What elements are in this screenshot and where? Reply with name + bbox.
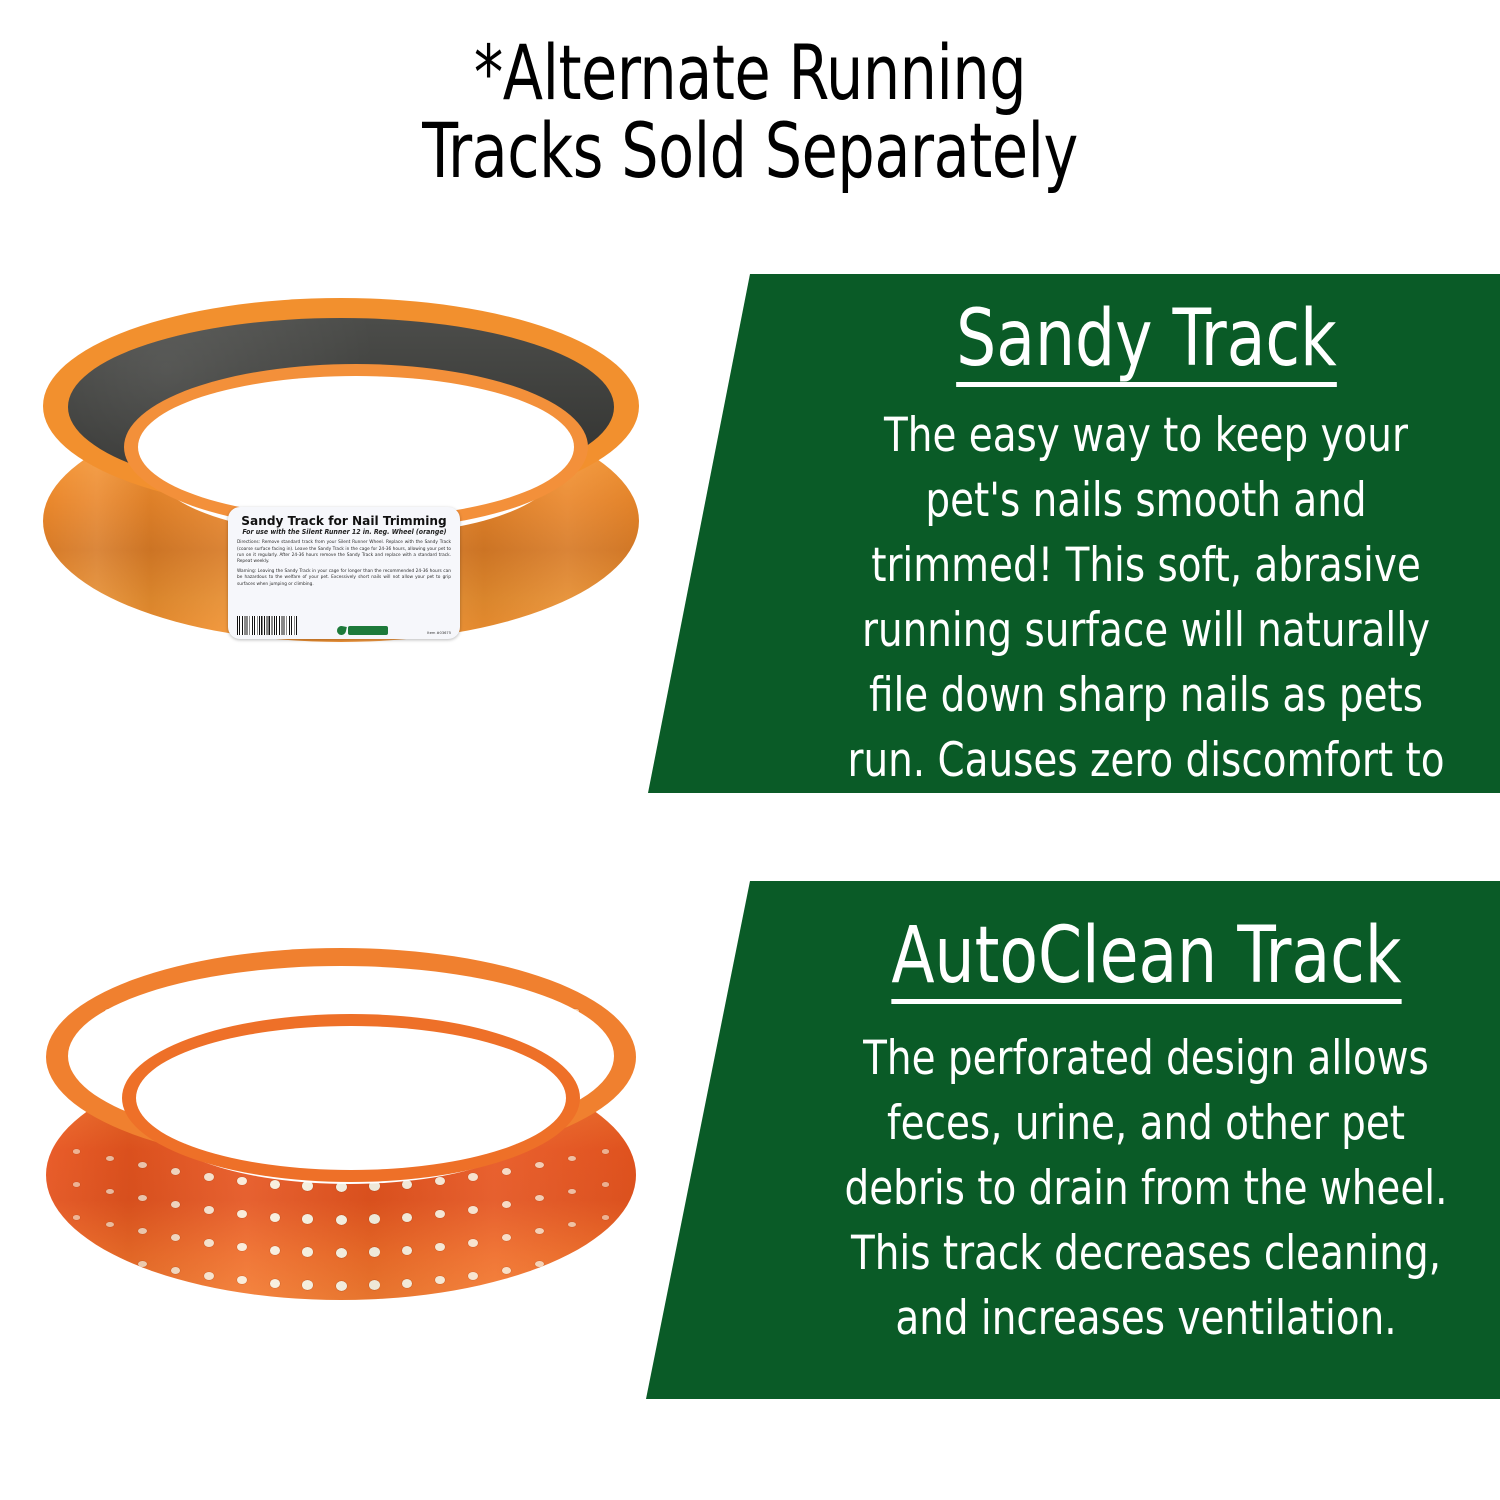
perforation-hole — [568, 1222, 576, 1227]
perforation-hole — [270, 1213, 281, 1222]
leaf-icon — [336, 625, 347, 636]
perforation-hole — [204, 1239, 214, 1247]
perforation-hole — [270, 1246, 281, 1255]
autoclean-track-info-panel: AutoClean Track The perforated design al… — [624, 881, 1500, 1399]
perforation-hole — [602, 1182, 609, 1186]
page-title: *Alternate Running Tracks Sold Separatel… — [105, 34, 1395, 189]
perforation-hole — [270, 1279, 281, 1288]
perforation-hole — [73, 1248, 80, 1252]
perforation-hole — [73, 1215, 80, 1219]
perforation-hole — [369, 1280, 380, 1290]
perforation-hole — [204, 1272, 214, 1280]
perforation-hole — [73, 1182, 80, 1186]
perforation-hole — [568, 1288, 576, 1293]
perforation-hole — [106, 1222, 114, 1227]
perforation-hole — [138, 1261, 147, 1267]
perforation-hole — [468, 1206, 478, 1214]
page-title-line-2: Tracks Sold Separately — [105, 112, 1395, 190]
autoclean-track-product-image — [38, 940, 644, 1326]
sandy-track-description: The easy way to keep your pet's nails sm… — [841, 403, 1452, 858]
perforation-hole — [204, 1206, 214, 1214]
perforation-hole — [535, 1261, 544, 1267]
perforation-hole — [535, 1228, 544, 1234]
perforation-hole — [106, 1255, 114, 1260]
perforation-hole — [502, 1267, 511, 1274]
sandy-track-product-image: Sandy Track for Nail Trimming For use wi… — [38, 292, 644, 672]
perforation-hole — [138, 1195, 147, 1201]
sandy-track-panel-content: Sandy Track The easy way to keep your pe… — [814, 274, 1478, 858]
perforation-hole — [435, 1210, 445, 1219]
product-label-directions: Directions: Remove standard track from y… — [237, 540, 451, 565]
perforation-hole — [602, 1215, 609, 1219]
perforation-hole — [106, 1288, 114, 1293]
perforation-hole — [435, 1276, 445, 1285]
perforation-hole — [502, 1201, 511, 1208]
perforation-hole — [602, 1248, 609, 1252]
perforation-hole — [502, 1168, 511, 1175]
brand-wordmark — [348, 626, 388, 635]
perforation-hole — [435, 1243, 445, 1252]
perforation-hole — [106, 1189, 114, 1194]
perforation-hole — [171, 1201, 180, 1208]
perforation-hole — [237, 1243, 247, 1252]
perforation-hole — [568, 1255, 576, 1260]
sandy-track-front-rim-cutout — [138, 376, 574, 518]
perforation-hole — [237, 1177, 247, 1186]
perforation-hole — [302, 1280, 313, 1290]
perforation-hole — [468, 1239, 478, 1247]
perforation-hole — [237, 1210, 247, 1219]
perforation-hole — [402, 1213, 413, 1222]
product-label-title: Sandy Track for Nail Trimming — [240, 514, 448, 527]
perforation-hole — [302, 1214, 313, 1224]
autoclean-track-band — [38, 940, 644, 1326]
perforation-hole — [138, 1162, 147, 1168]
perforation-hole — [568, 1189, 576, 1194]
perforation-hole — [602, 1149, 609, 1153]
perforation-hole — [106, 1156, 114, 1161]
perforation-hole — [435, 1177, 445, 1186]
sandy-track-heading: Sandy Track — [956, 300, 1337, 387]
perforation-hole — [468, 1173, 478, 1181]
product-item-number: Item #03675 — [427, 631, 451, 635]
perforation-hole — [369, 1247, 380, 1257]
perforation-hole — [336, 1248, 347, 1258]
perforation-hole — [171, 1168, 180, 1175]
perforation-hole — [73, 1149, 80, 1153]
sandy-track-info-panel: Sandy Track The easy way to keep your pe… — [624, 274, 1500, 793]
perforation-hole — [302, 1247, 313, 1257]
autoclean-front-rim-cutout — [136, 1026, 566, 1170]
brand-logo — [337, 626, 388, 635]
perforation-hole — [535, 1162, 544, 1168]
perforation-hole — [468, 1272, 478, 1280]
perforation-hole — [204, 1173, 214, 1181]
perforation-hole — [602, 1281, 609, 1285]
autoclean-track-panel-content: AutoClean Track The perforated design al… — [814, 881, 1478, 1351]
product-label: Sandy Track for Nail Trimming For use wi… — [228, 507, 460, 639]
perforation-hole — [402, 1279, 413, 1288]
perforation-hole — [502, 1234, 511, 1241]
product-label-footer: Item #03675 — [237, 616, 451, 635]
perforation-hole — [73, 1281, 80, 1285]
perforation-hole — [535, 1195, 544, 1201]
perforation-hole — [138, 1294, 147, 1300]
perforation-hole — [336, 1215, 347, 1225]
product-label-warning: Warning: Leaving the Sandy Track in your… — [237, 569, 451, 588]
perforation-hole — [138, 1228, 147, 1234]
autoclean-track-description: The perforated design allows feces, urin… — [841, 1026, 1452, 1351]
perforation-hole — [402, 1246, 413, 1255]
perforation-hole — [568, 1156, 576, 1161]
perforation-hole — [535, 1294, 544, 1300]
autoclean-track-heading: AutoClean Track — [891, 917, 1401, 1004]
perforation-hole — [369, 1214, 380, 1224]
perforation-hole — [336, 1281, 347, 1291]
perforation-hole — [171, 1267, 180, 1274]
barcode-icon — [237, 616, 297, 635]
product-label-subtitle: For use with the Silent Runner 12 in. Re… — [242, 529, 445, 536]
page-title-line-1: *Alternate Running — [105, 34, 1395, 112]
poster-root: *Alternate Running Tracks Sold Separatel… — [0, 0, 1500, 1500]
perforation-hole — [171, 1234, 180, 1241]
perforation-hole — [270, 1180, 281, 1189]
perforation-hole — [237, 1276, 247, 1285]
